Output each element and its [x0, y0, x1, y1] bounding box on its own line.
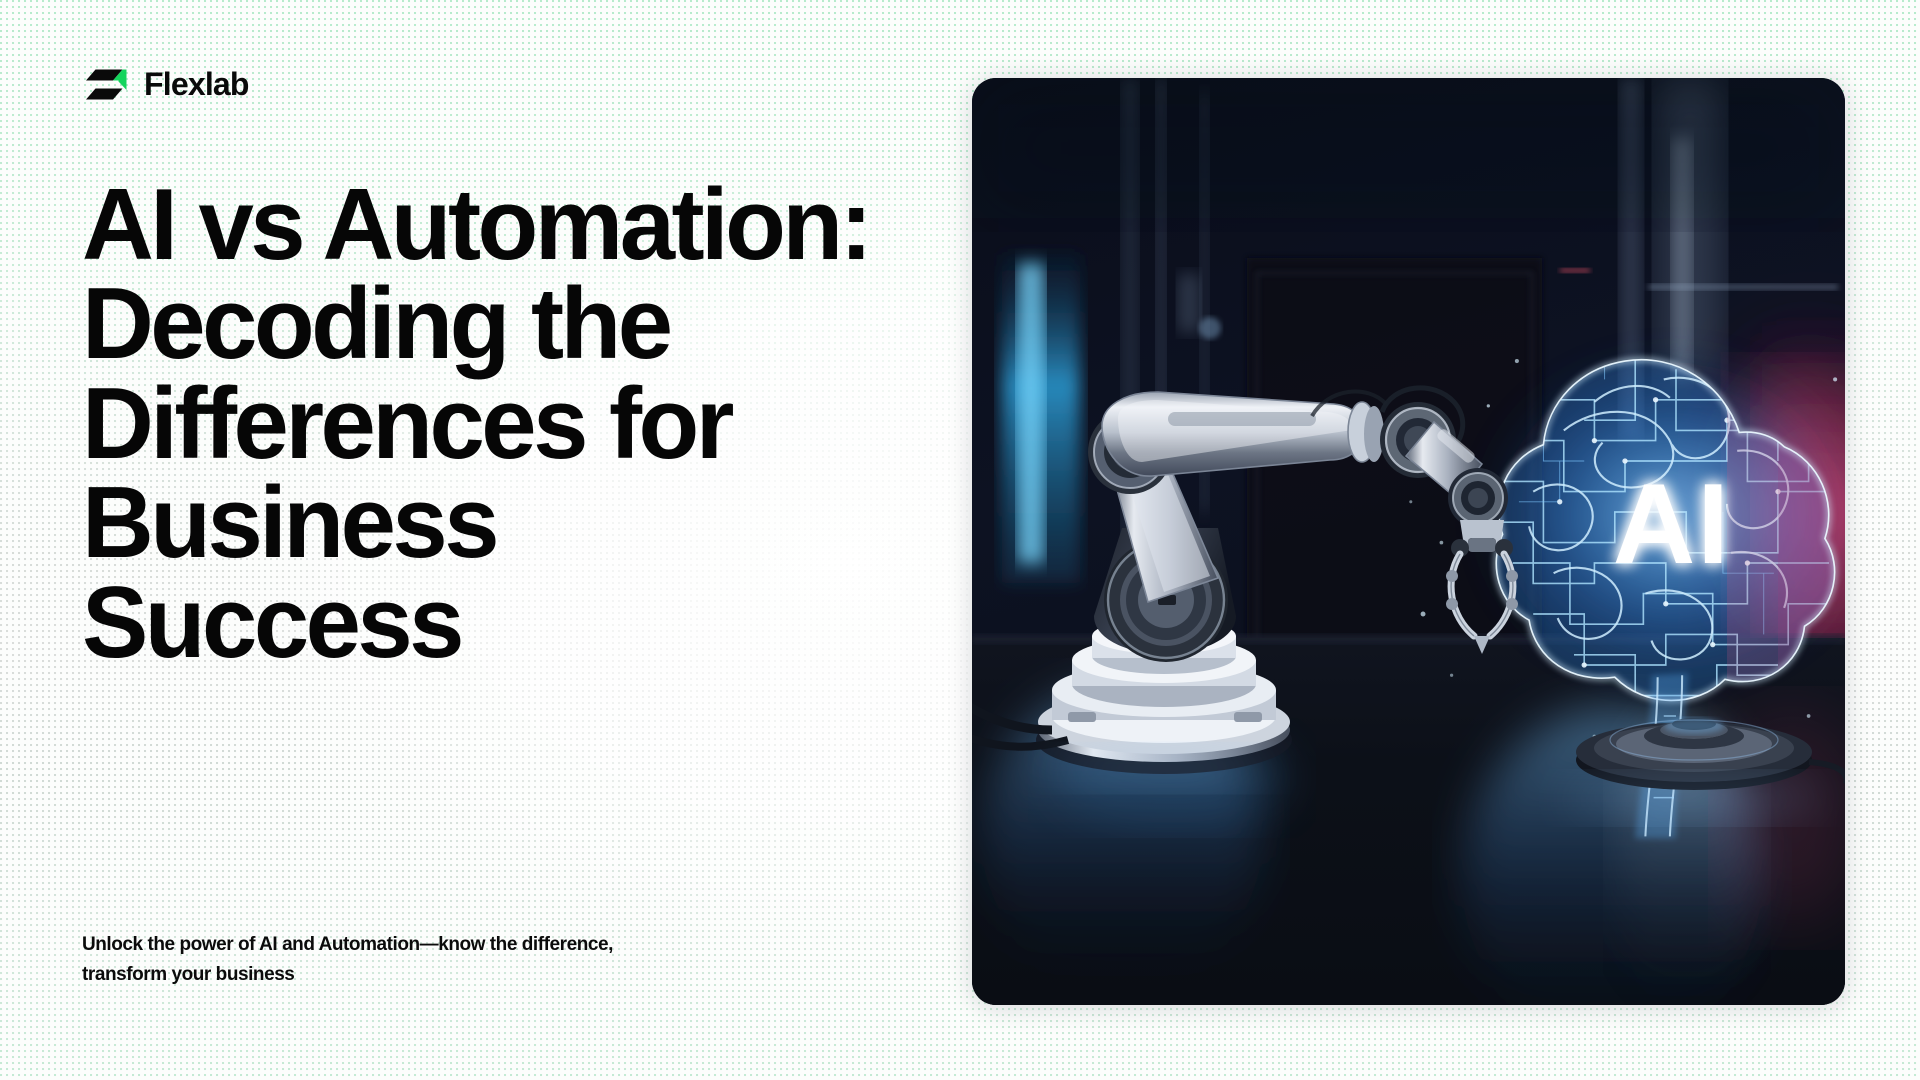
hero-image-alt: Robotic arm facing a glowing holographic…	[972, 78, 973, 79]
page-title: AI vs Automation: Decoding the Differenc…	[82, 176, 870, 673]
brand-name: Flexlab	[144, 68, 249, 100]
page-canvas: Flexlab AI vs Automation: Decoding the D…	[0, 0, 1920, 1080]
page-subtitle: Unlock the power of AI and Automation—kn…	[82, 930, 672, 990]
flexlab-z-arrow-logo-icon	[82, 62, 130, 106]
left-content-column: Flexlab AI vs Automation: Decoding the D…	[82, 0, 942, 1080]
brand-lockup[interactable]: Flexlab	[82, 62, 249, 106]
hologram-ai-label: AI	[1613, 461, 1731, 588]
hero-image: Robotic arm facing a glowing holographic…	[972, 78, 1845, 1005]
hero-illustration: AI	[972, 78, 1845, 1005]
